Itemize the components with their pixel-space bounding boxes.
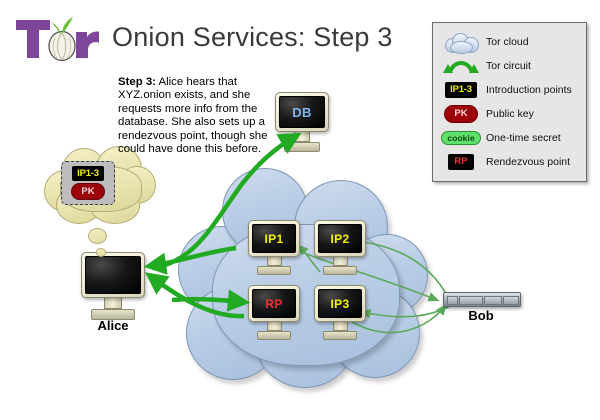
step-label: Step 3:: [118, 76, 156, 88]
diagram-canvas: Onion Services: Step 3 Step 3: Alice hea…: [0, 0, 600, 420]
public-key-badge: PK: [71, 183, 104, 201]
introduction-point-badge: IP1-3: [72, 166, 104, 182]
arrow-cloud-to-alice-lower: [150, 276, 244, 316]
thought-puff-small: [96, 248, 106, 257]
arrow-alice-to-rendezvous-point: [172, 299, 244, 302]
step-caption: Step 3: Alice hears that XYZ.onion exist…: [118, 76, 270, 156]
thought-puff-large: [88, 228, 107, 244]
thought-bubble-contents: IP1-3 PK: [61, 161, 115, 205]
